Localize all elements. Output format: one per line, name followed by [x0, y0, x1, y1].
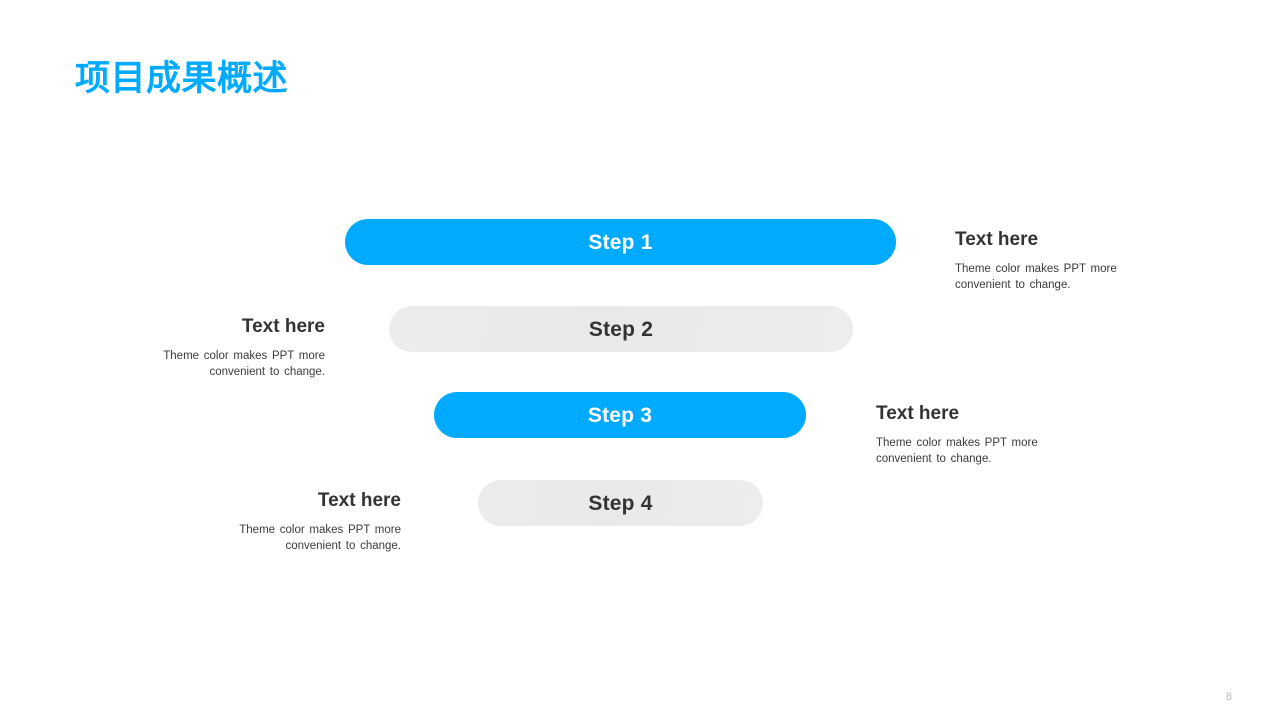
step-caption-title-4: Text here	[186, 490, 401, 513]
page-number: 8	[1226, 692, 1232, 703]
step-bar-label-1: Step 1	[588, 232, 652, 253]
step-bar-label-3: Step 3	[588, 405, 652, 426]
step-bar-3[interactable]: Step 3	[434, 392, 806, 438]
step-caption-body-4: Theme color makes PPT more convenient to…	[186, 522, 401, 555]
step-caption-3: Text here Theme color makes PPT more con…	[876, 403, 1091, 467]
step-caption-title-1: Text here	[955, 229, 1170, 252]
step-caption-body-2: Theme color makes PPT more convenient to…	[110, 348, 325, 381]
step-bar-1[interactable]: Step 1	[345, 219, 896, 265]
step-bar-2[interactable]: Step 2	[389, 306, 853, 352]
step-bar-label-4: Step 4	[588, 493, 652, 514]
step-caption-2: Text here Theme color makes PPT more con…	[110, 316, 325, 380]
step-caption-4: Text here Theme color makes PPT more con…	[186, 490, 401, 554]
step-bar-label-2: Step 2	[589, 319, 653, 340]
step-caption-1: Text here Theme color makes PPT more con…	[955, 229, 1170, 293]
step-funnel: Step 1 Text here Theme color makes PPT m…	[0, 0, 1280, 720]
step-caption-body-1: Theme color makes PPT more convenient to…	[955, 261, 1170, 294]
step-bar-4[interactable]: Step 4	[478, 480, 763, 526]
step-caption-body-3: Theme color makes PPT more convenient to…	[876, 435, 1091, 468]
step-caption-title-3: Text here	[876, 403, 1091, 426]
step-caption-title-2: Text here	[110, 316, 325, 339]
